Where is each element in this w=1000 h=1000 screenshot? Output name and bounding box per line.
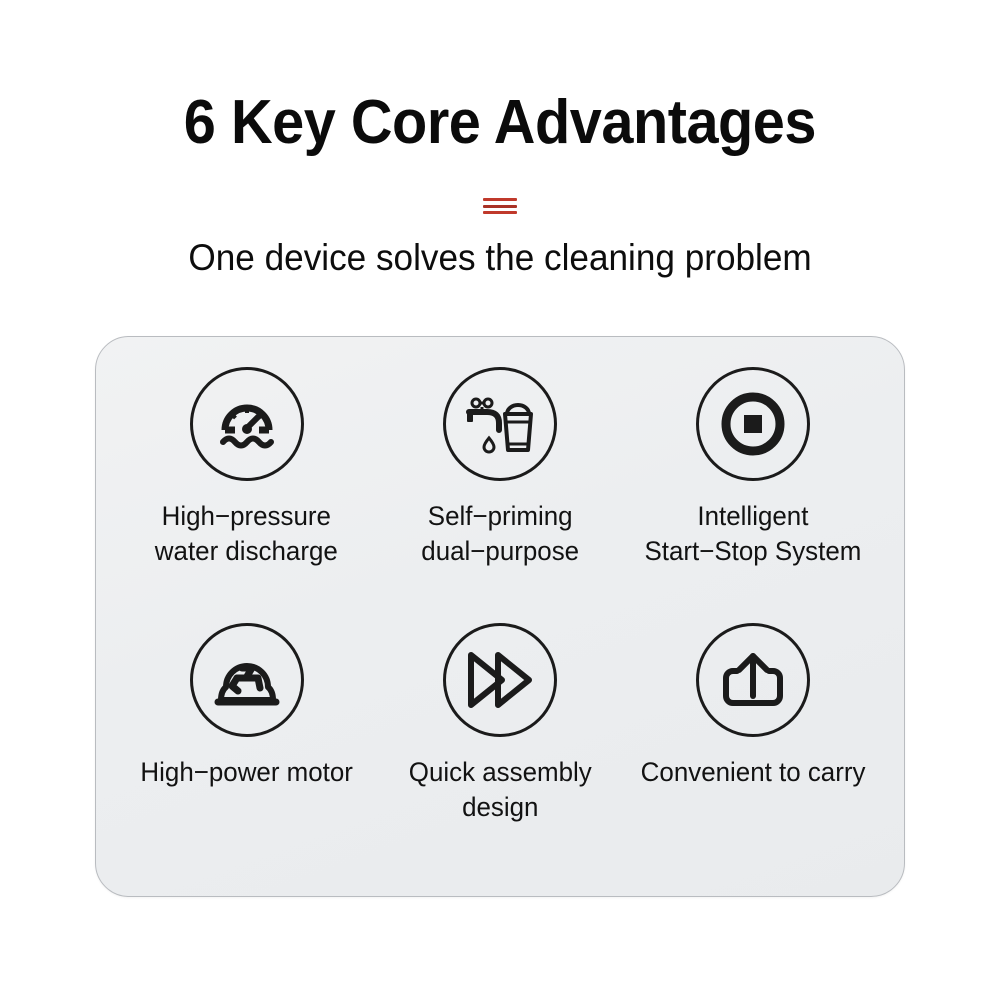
feature-item-self-priming[interactable]: Self−priming dual−purpose [373, 367, 626, 621]
features-grid: High−pressure water discharge [96, 337, 904, 896]
feature-label: High−power motor [140, 755, 353, 790]
icon-frame [696, 367, 810, 481]
faucet-bucket-icon [463, 388, 537, 460]
upload-share-icon [717, 644, 789, 716]
infographic-page: 6 Key Core Advantages One device solves … [0, 0, 1000, 1000]
features-card: High−pressure water discharge [95, 336, 905, 897]
triple-line-divider [483, 198, 517, 214]
divider-line-top [483, 198, 517, 201]
feature-label: Self−priming dual−purpose [421, 499, 579, 569]
page-subtitle: One device solves the cleaning problem [188, 236, 811, 280]
feature-item-start-stop[interactable]: Intelligent Start−Stop System [627, 367, 880, 621]
motor-pump-icon [209, 644, 285, 716]
icon-frame [443, 623, 557, 737]
divider-line-middle [483, 205, 517, 208]
feature-label: Convenient to carry [641, 755, 866, 790]
stop-button-icon [715, 386, 791, 462]
feature-label: Quick assembly design [409, 755, 592, 825]
icon-frame [696, 623, 810, 737]
icon-frame [190, 623, 304, 737]
feature-item-quick-assembly[interactable]: Quick assembly design [373, 623, 626, 875]
divider-line-bottom [483, 211, 517, 214]
page-title: 6 Key Core Advantages [184, 88, 816, 158]
icon-frame [443, 367, 557, 481]
feature-item-high-pressure[interactable]: High−pressure water discharge [120, 367, 373, 621]
feature-label: High−pressure water discharge [155, 499, 338, 569]
pressure-gauge-water-icon [211, 388, 283, 460]
double-chevron-forward-icon [462, 647, 538, 713]
feature-item-convenient-carry[interactable]: Convenient to carry [627, 623, 880, 875]
feature-label: Intelligent Start−Stop System [645, 499, 862, 569]
feature-item-high-power-motor[interactable]: High−power motor [120, 623, 373, 875]
icon-frame [190, 367, 304, 481]
